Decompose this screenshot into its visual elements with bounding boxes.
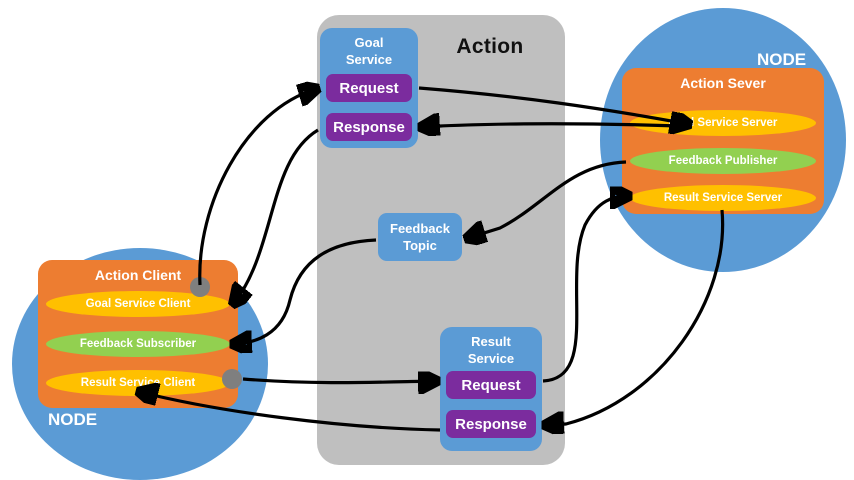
result-service-client-connector-dot <box>222 369 242 389</box>
goal-service-request[interactable]: Request <box>326 74 412 102</box>
goal-service-response[interactable]: Response <box>326 113 412 141</box>
action-panel-title: Action <box>430 35 550 59</box>
result-service-box: Result Service Request Response <box>440 327 542 451</box>
arrow-goal-response-to-goal-client <box>234 130 318 303</box>
action-server-box: Action Sever Goal Service Server Feedbac… <box>622 68 824 214</box>
goal-service-title-line2: Service <box>320 51 418 68</box>
result-service-server-pill[interactable]: Result Service Server <box>630 185 816 211</box>
goal-service-title: Goal Service <box>320 34 418 68</box>
feedback-topic-title-line1: Feedback <box>390 220 450 237</box>
goal-service-server-pill[interactable]: Goal Service Server <box>630 110 816 136</box>
feedback-subscriber-pill[interactable]: Feedback Subscriber <box>46 331 230 357</box>
action-server-title: Action Sever <box>622 75 824 91</box>
server-node-label: NODE <box>757 50 806 70</box>
client-node-label: NODE <box>48 410 97 430</box>
feedback-topic-box[interactable]: Feedback Topic <box>378 213 462 261</box>
arrow-goal-client-to-goal-request <box>200 89 316 285</box>
result-service-title: Result Service <box>440 333 542 367</box>
diagram-canvas: Action NODE Action Client Goal Service C… <box>0 0 854 480</box>
goal-service-title-line1: Goal <box>320 34 418 51</box>
result-service-client-pill[interactable]: Result Service Client <box>46 370 230 396</box>
goal-service-client-connector-dot <box>190 277 210 297</box>
result-service-title-line1: Result <box>440 333 542 350</box>
result-service-request[interactable]: Request <box>446 371 536 399</box>
result-service-title-line2: Service <box>440 350 542 367</box>
result-service-response[interactable]: Response <box>446 410 536 438</box>
feedback-topic-title-line2: Topic <box>403 237 437 254</box>
goal-service-box: Goal Service Request Response <box>320 28 418 148</box>
feedback-publisher-pill[interactable]: Feedback Publisher <box>630 148 816 174</box>
